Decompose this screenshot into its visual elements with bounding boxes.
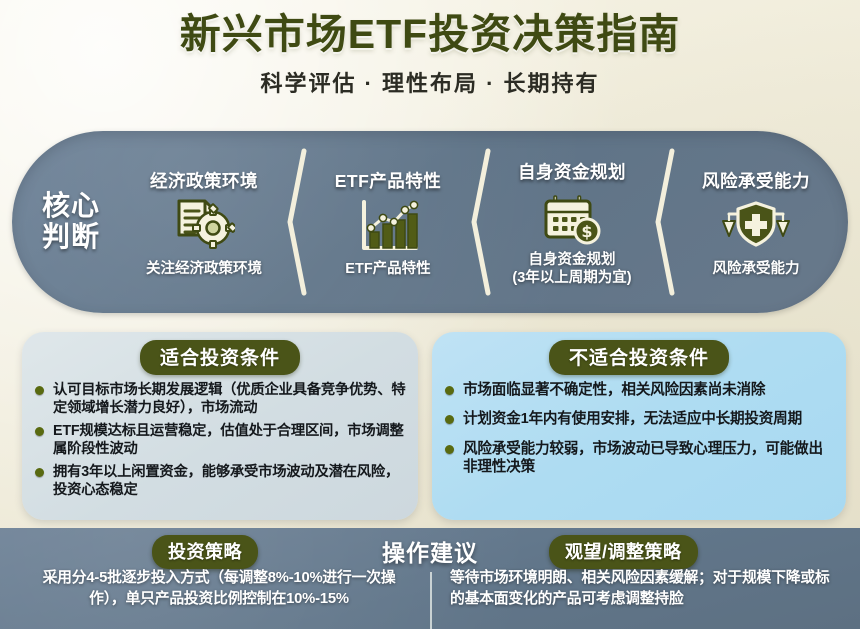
core-cell-title: 风险承受能力 [702, 168, 810, 193]
scales-shield-icon [719, 197, 793, 257]
core-cell-caption-line2: (3年以上周期为宜) [512, 270, 631, 288]
chevron-separator-icon [287, 146, 307, 298]
core-cell-title: 自身资金规划 [518, 159, 626, 184]
wait-adjust-strategy-text: 等待市场环境明朗、相关风险因素缓解；对于规模下降或标的基本面变化的产品可考虑调整… [424, 568, 846, 611]
core-cell-etf-characteristics[interactable]: ETF产品特性 [296, 131, 480, 313]
panel-title-pill: 适合投资条件 [140, 340, 300, 375]
core-judgment-label: 核心 判断 [12, 191, 112, 253]
bottom-section-title: 操作建议 [0, 534, 860, 568]
core-judgment-band: 核心 判断 经济政策环境 [12, 131, 848, 313]
core-items: 经济政策环境 [112, 131, 848, 313]
core-label-line2: 判断 [30, 222, 112, 253]
list-item: 计划资金1年内有使用安排，无法适应中长期投资周期 [444, 410, 834, 428]
list-item: 拥有3年以上闲置资金，能够承受市场波动及潜在风险，投资心态稳定 [34, 463, 406, 499]
chevron-separator-icon [471, 146, 491, 298]
page-title: 新兴市场ETF投资决策指南 [0, 12, 860, 58]
bar-chart-growth-icon [356, 197, 420, 257]
panel-header: 不适合投资条件 [444, 340, 834, 375]
core-cell-caption: 自身资金规划 (3年以上周期为宜) [512, 252, 631, 287]
investment-strategy-text: 采用分4-5批逐步投入方式（每调整8%-10%进行一次操作），单只产品投资比例控… [14, 568, 424, 611]
core-cell-capital-planning[interactable]: 自身资金规划 [480, 131, 664, 313]
core-cell-caption: 关注经济政策环境 [146, 261, 262, 279]
suitable-conditions-list: 认可目标市场长期发展逻辑（优质企业具备竞争优势、特定领域增长潜力良好），市场流动… [34, 381, 406, 499]
core-cell-caption: ETF产品特性 [345, 261, 430, 279]
core-cell-risk-tolerance[interactable]: 风险承受能力 风险承受能力 [664, 131, 848, 313]
bottom-columns: 采用分4-5批逐步投入方式（每调整8%-10%进行一次操作），单只产品投资比例控… [0, 568, 860, 611]
panel-suitable-conditions: 适合投资条件 认可目标市场长期发展逻辑（优质企业具备竞争优势、特定领域增长潜力良… [22, 332, 418, 520]
core-cell-title: ETF产品特性 [335, 168, 442, 193]
core-cell-caption: 风险承受能力 [713, 261, 800, 279]
list-item: ETF规模达标且运营稳定，估值处于合理区间，市场调整属阶段性波动 [34, 422, 406, 458]
core-cell-economic-policy[interactable]: 经济政策环境 [112, 131, 296, 313]
page-subtitle: 科学评估 · 理性布局 · 长期持有 [0, 66, 860, 98]
header: 新兴市场ETF投资决策指南 科学评估 · 理性布局 · 长期持有 [0, 0, 860, 98]
document-gear-icon [173, 197, 235, 257]
core-cell-title: 经济政策环境 [150, 168, 258, 193]
infographic-page: 新兴市场ETF投资决策指南 科学评估 · 理性布局 · 长期持有 核心 判断 经… [0, 0, 860, 629]
bottom-headers: 投资策略 操作建议 观望/调整策略 [0, 528, 860, 568]
chevron-separator-icon [655, 146, 675, 298]
condition-panels: 适合投资条件 认可目标市场长期发展逻辑（优质企业具备竞争优势、特定领域增长潜力良… [0, 322, 860, 527]
svg-text:$: $ [581, 222, 592, 241]
calendar-coin-icon: $ [542, 188, 602, 248]
panel-unsuitable-conditions: 不适合投资条件 市场面临显著不确定性，相关风险因素尚未消除 计划资金1年内有使用… [432, 332, 846, 520]
panel-title-pill: 不适合投资条件 [549, 340, 729, 375]
core-cell-caption-line1: 自身资金规划 [512, 252, 631, 270]
panel-header: 适合投资条件 [34, 340, 406, 375]
list-item: 风险承受能力较弱，市场波动已导致心理压力，可能做出非理性决策 [444, 440, 834, 477]
unsuitable-conditions-list: 市场面临显著不确定性，相关风险因素尚未消除 计划资金1年内有使用安排，无法适应中… [444, 381, 834, 477]
wait-adjust-strategy-pill: 观望/调整策略 [549, 535, 698, 569]
operation-advice-band: 投资策略 操作建议 观望/调整策略 采用分4-5批逐步投入方式（每调整8%-10… [0, 528, 860, 629]
core-label-line1: 核心 [30, 191, 112, 222]
column-divider [430, 572, 432, 629]
list-item: 认可目标市场长期发展逻辑（优质企业具备竞争优势、特定领域增长潜力良好），市场流动 [34, 381, 406, 417]
list-item: 市场面临显著不确定性，相关风险因素尚未消除 [444, 381, 834, 399]
